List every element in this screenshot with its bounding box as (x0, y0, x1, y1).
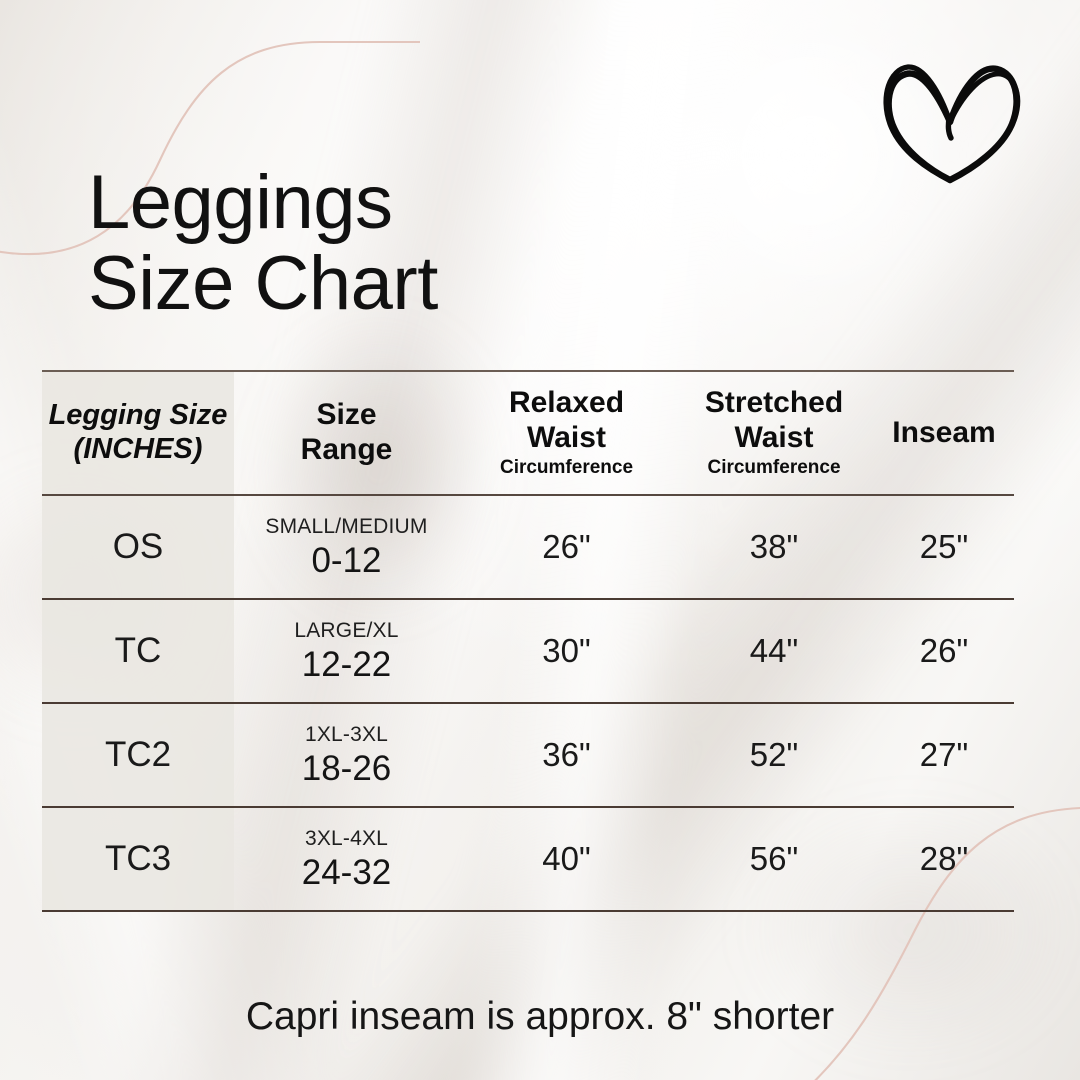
size-chart-canvas: Leggings Size Chart Legging Size (INCHES… (0, 0, 1080, 1080)
capri-footnote: Capri inseam is approx. 8" shorter (0, 995, 1080, 1039)
header-size-range-label: Size Range (234, 398, 459, 468)
cell-size: TC2 (42, 703, 234, 807)
size-chart-table: Legging Size (INCHES) Size Range Relaxed… (42, 370, 1014, 912)
cell-size-range: 1XL-3XL 18-26 (234, 703, 459, 807)
table-row: OS SMALL/MEDIUM 0-12 26" 38" 25" (42, 495, 1014, 599)
cell-stretched-waist: 44" (674, 599, 874, 703)
header-legging-size: Legging Size (INCHES) (42, 371, 234, 495)
header-legging-size-label: Legging Size (INCHES) (42, 399, 234, 466)
cell-size-range: 3XL-4XL 24-32 (234, 807, 459, 911)
header-stretched-waist-sub: Circumference (674, 456, 874, 480)
cell-inseam: 28" (874, 807, 1014, 911)
header-relaxed-waist-sub: Circumference (459, 456, 674, 480)
cell-size: TC (42, 599, 234, 703)
cell-range-numbers: 0-12 (234, 543, 459, 578)
table-row: TC2 1XL-3XL 18-26 36" 52" 27" (42, 703, 1014, 807)
cell-size-range: SMALL/MEDIUM 0-12 (234, 495, 459, 599)
cell-size: OS (42, 495, 234, 599)
heart-doodle-icon (878, 52, 1028, 184)
header-row: Legging Size (INCHES) Size Range Relaxed… (42, 371, 1014, 495)
header-inseam: Inseam (874, 371, 1014, 495)
cell-size: TC3 (42, 807, 234, 911)
table-header: Legging Size (INCHES) Size Range Relaxed… (42, 371, 1014, 495)
table-row: TC LARGE/XL 12-22 30" 44" 26" (42, 599, 1014, 703)
table-row: TC3 3XL-4XL 24-32 40" 56" 28" (42, 807, 1014, 911)
table-body: OS SMALL/MEDIUM 0-12 26" 38" 25" TC LARG… (42, 495, 1014, 911)
header-stretched-waist: Stretched Waist Circumference (674, 371, 874, 495)
cell-range-numbers: 12-22 (234, 647, 459, 682)
cell-size-range: LARGE/XL 12-22 (234, 599, 459, 703)
cell-inseam: 25" (874, 495, 1014, 599)
cell-inseam: 27" (874, 703, 1014, 807)
cell-range-letters: SMALL/MEDIUM (234, 516, 459, 537)
header-relaxed-waist: Relaxed Waist Circumference (459, 371, 674, 495)
cell-range-letters: LARGE/XL (234, 620, 459, 641)
page-title: Leggings Size Chart (88, 163, 438, 324)
header-size-range: Size Range (234, 371, 459, 495)
cell-relaxed-waist: 26" (459, 495, 674, 599)
cell-stretched-waist: 56" (674, 807, 874, 911)
cell-relaxed-waist: 30" (459, 599, 674, 703)
header-inseam-label: Inseam (874, 416, 1014, 451)
cell-stretched-waist: 38" (674, 495, 874, 599)
cell-range-numbers: 18-26 (234, 751, 459, 786)
cell-stretched-waist: 52" (674, 703, 874, 807)
cell-range-numbers: 24-32 (234, 855, 459, 890)
header-relaxed-waist-label: Relaxed Waist (459, 386, 674, 456)
header-stretched-waist-label: Stretched Waist (674, 386, 874, 456)
cell-range-letters: 1XL-3XL (234, 724, 459, 745)
cell-range-letters: 3XL-4XL (234, 828, 459, 849)
cell-relaxed-waist: 36" (459, 703, 674, 807)
cell-relaxed-waist: 40" (459, 807, 674, 911)
cell-inseam: 26" (874, 599, 1014, 703)
